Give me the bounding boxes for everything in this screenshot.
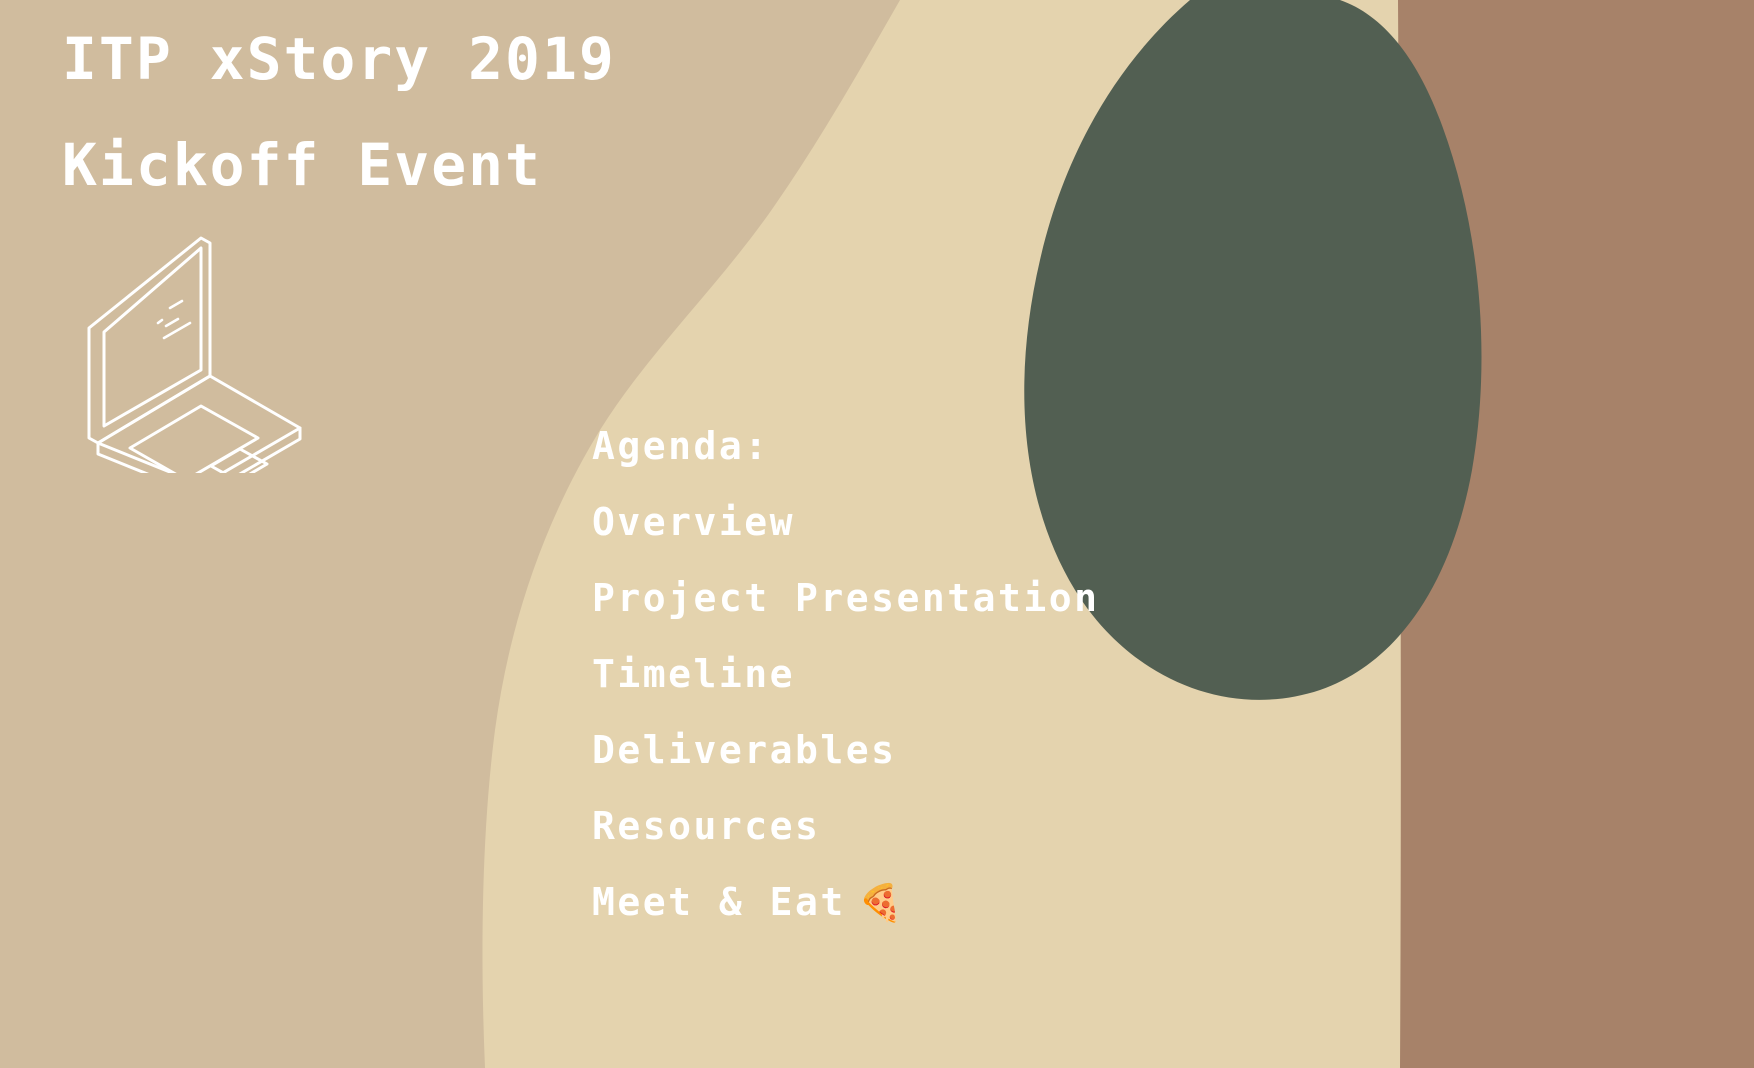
agenda-item-project-presentation: Project Presentation [592,560,1100,636]
agenda-item-meet-and-eat-label: Meet & Eat [592,880,846,924]
agenda-item-overview: Overview [592,484,1100,560]
agenda-item-meet-and-eat: Meet & Eat 🍕 [592,864,1100,942]
laptop-glare-3 [166,319,178,326]
agenda-item-deliverables: Deliverables [592,712,1100,788]
title-line-2: Kickoff Event [62,112,616,218]
laptop-glare-2 [170,301,182,308]
laptop-icon [62,228,302,473]
laptop-base-top [98,376,300,473]
agenda-item-resources: Resources [592,788,1100,864]
agenda-item-timeline: Timeline [592,636,1100,712]
pizza-icon: 🍕 [846,883,903,924]
right-brown-band [1392,0,1754,1068]
presentation-slide: ITP xStory 2019 Kickoff Event Agenda: O [0,0,1754,1068]
laptop-glare-1 [158,320,162,323]
agenda-heading: Agenda: [592,408,1100,484]
page-title: ITP xStory 2019 Kickoff Event [62,6,616,218]
agenda-list: Agenda: Overview Project Presentation Ti… [592,408,1100,942]
laptop-base-edge [98,428,300,473]
title-line-1: ITP xStory 2019 [62,6,616,112]
laptop-screen-inner [104,248,201,426]
